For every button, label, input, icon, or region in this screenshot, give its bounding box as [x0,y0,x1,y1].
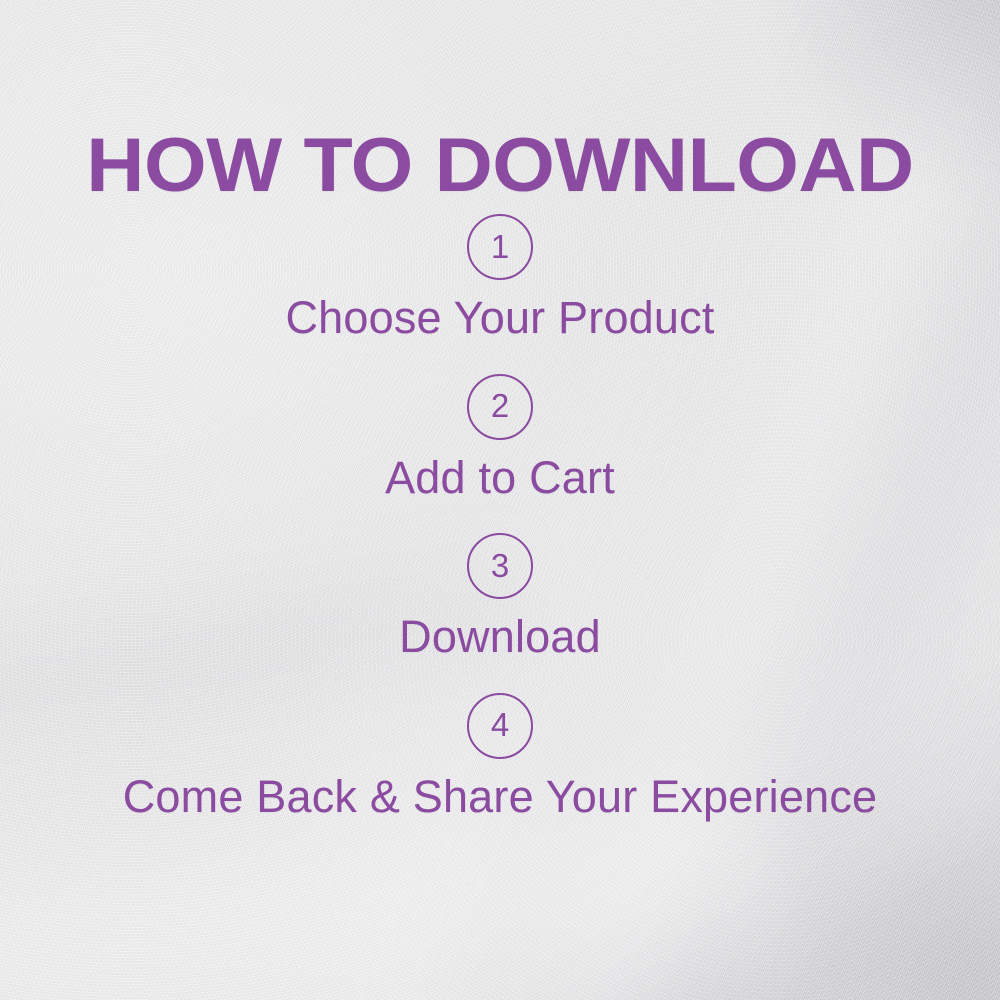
step-item-2: 2 Add to Cart [0,374,1000,503]
page-title: HOW TO DOWNLOAD [0,128,1000,204]
step-label-2: Add to Cart [0,454,1000,503]
how-to-download-poster: HOW TO DOWNLOAD 1 Choose Your Product 2 … [0,0,1000,1000]
step-item-3: 3 Download [0,533,1000,662]
step-number-circle-4: 4 [467,693,533,759]
step-number-4: 4 [491,708,509,741]
step-item-1: 1 Choose Your Product [0,214,1000,343]
steps-list: 1 Choose Your Product 2 Add to Cart 3 Do… [0,214,1000,821]
step-number-1: 1 [491,230,509,263]
poster-content: HOW TO DOWNLOAD 1 Choose Your Product 2 … [0,0,1000,1000]
step-number-circle-2: 2 [467,374,533,440]
step-label-4: Come Back & Share Your Experience [0,773,1000,822]
step-number-circle-1: 1 [467,214,533,280]
step-label-3: Download [0,613,1000,662]
step-label-1: Choose Your Product [0,294,1000,343]
step-number-2: 2 [491,389,509,422]
step-number-circle-3: 3 [467,533,533,599]
step-number-3: 3 [491,549,509,582]
step-item-4: 4 Come Back & Share Your Experience [0,693,1000,822]
